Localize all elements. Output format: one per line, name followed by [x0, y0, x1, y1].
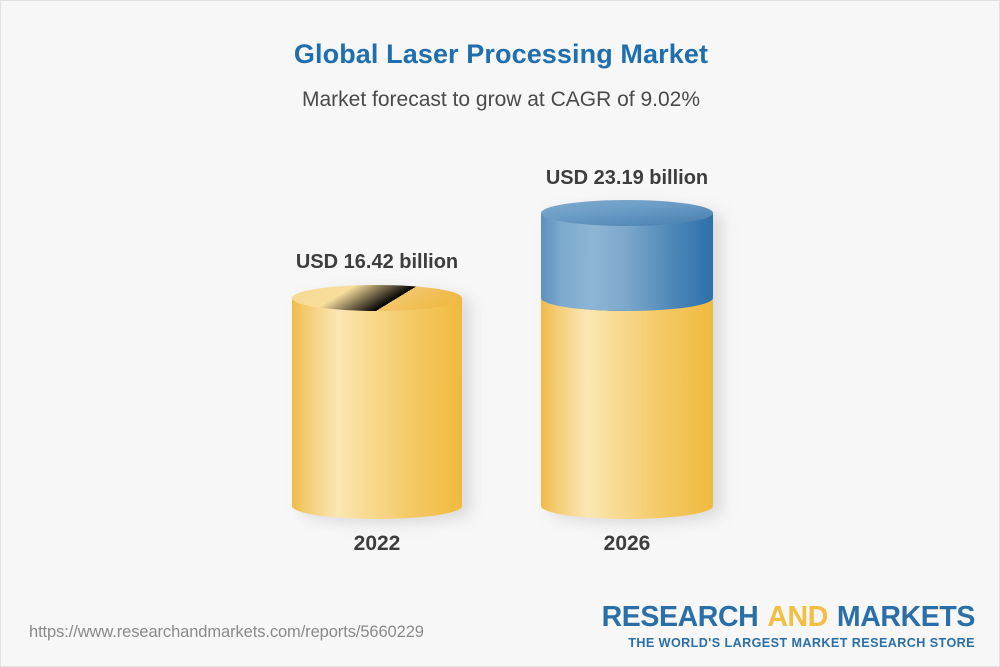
brand-wordmark: RESEARCHANDMARKETS	[602, 603, 975, 632]
cylinder-2026-top	[541, 200, 713, 226]
infographic-canvas: Global Laser Processing Market Market fo…	[0, 0, 1000, 667]
category-label-2026: 2026	[467, 532, 787, 556]
source-url-link[interactable]: https://www.researchandmarkets.com/repor…	[29, 623, 424, 642]
cylinder-2022	[292, 151, 492, 541]
cylinder-2026-base-segment	[541, 298, 713, 519]
cylinder-2022-body	[292, 298, 462, 519]
cylinder-2026-growth-segment	[541, 213, 713, 311]
brand-word-markets: MARKETS	[837, 601, 975, 633]
brand-word-research: RESEARCH	[602, 601, 759, 633]
cylinder-2026	[541, 151, 746, 541]
brand-logo[interactable]: RESEARCHANDMARKETS THE WORLD'S LARGEST M…	[602, 603, 975, 649]
brand-tagline: THE WORLD'S LARGEST MARKET RESEARCH STOR…	[602, 637, 975, 650]
brand-word-and: AND	[767, 601, 828, 633]
cylinder-2022-top	[292, 285, 462, 311]
chart-plot-area: USD 16.42 billion USD 23.19 billion	[1, 1, 1000, 601]
